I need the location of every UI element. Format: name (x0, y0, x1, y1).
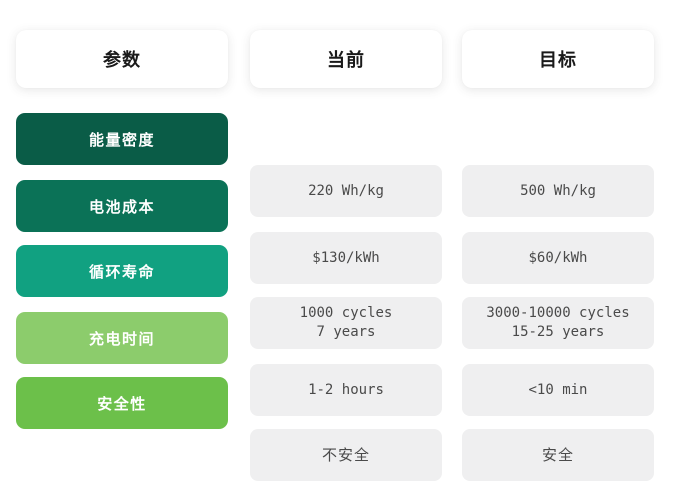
table-row: 电池成本 $130/kWh $60/kWh (0, 180, 700, 232)
column-header-parameter: 参数 (16, 30, 228, 88)
row-label-cycle-life: 循环寿命 (16, 245, 228, 297)
table-row: 充电时间 1-2 hours <10 min (0, 312, 700, 364)
row-label-text: 充电时间 (89, 328, 155, 349)
table-row: 循环寿命 1000 cycles 7 years 3000-10000 cycl… (0, 245, 700, 297)
row-label-battery-cost: 电池成本 (16, 180, 228, 232)
table-row: 安全性 不安全 安全 (0, 377, 700, 429)
row-label-energy-density: 能量密度 (16, 113, 228, 165)
table-row: 能量密度 220 Wh/kg 500 Wh/kg (0, 113, 700, 165)
value-line: 安全 (542, 446, 574, 465)
cell-current-safety: 不安全 (250, 429, 442, 481)
row-label-text: 循环寿命 (89, 261, 155, 282)
row-label-text: 安全性 (97, 393, 147, 414)
column-header-target: 目标 (462, 30, 654, 88)
row-label-text: 电池成本 (89, 196, 155, 217)
table-header-row: 参数 当前 目标 (0, 30, 700, 88)
column-header-current: 当前 (250, 30, 442, 88)
row-label-charge-time: 充电时间 (16, 312, 228, 364)
row-label-text: 能量密度 (89, 129, 155, 150)
row-label-safety: 安全性 (16, 377, 228, 429)
cell-target-safety: 安全 (462, 429, 654, 481)
value-line: 不安全 (322, 446, 370, 465)
comparison-table: 参数 当前 目标 能量密度 220 Wh/kg 500 Wh/kg 电池成本 $… (0, 0, 700, 459)
